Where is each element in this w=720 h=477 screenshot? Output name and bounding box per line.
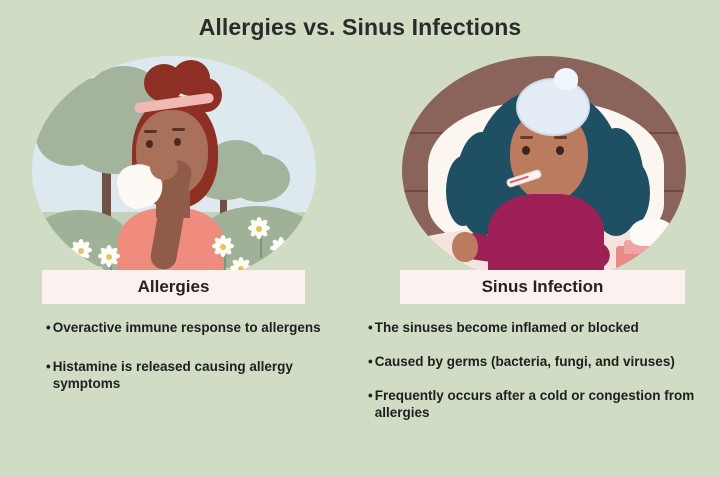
girl-eyebrow-right	[172, 128, 185, 131]
daisy-center	[106, 254, 112, 260]
banner-sinus-infection-label: Sinus Infection	[482, 277, 604, 296]
infographic-root: Allergies vs. Sinus Infections	[0, 0, 720, 477]
daisy-center	[256, 226, 262, 232]
bullet-marker-icon: •	[46, 320, 51, 337]
illustration-woman-in-bed-sick	[402, 56, 686, 284]
woman-eye-right	[556, 146, 564, 155]
girl-eye-left	[146, 140, 153, 148]
ice-pack-knot	[554, 68, 578, 90]
girl-eye-right	[174, 138, 181, 146]
bullet-list-sinus-infection: • The sinuses become inflamed or blocked…	[368, 320, 698, 439]
woman-hand	[452, 232, 478, 262]
daisy-center	[220, 244, 226, 250]
panel-sinus-infection: Sinus Infection	[392, 52, 692, 284]
list-item: • Caused by germs (bacteria, fungi, and …	[368, 354, 698, 371]
daisy-flower	[96, 244, 122, 270]
banner-allergies: Allergies	[42, 270, 305, 304]
illustration-woman-outdoors-sneezing	[32, 56, 316, 284]
bullet-marker-icon: •	[46, 359, 51, 393]
girl-eyebrow-left	[144, 130, 157, 133]
woman-hair-strand-far-right	[614, 160, 650, 226]
daisy-flower	[268, 236, 294, 262]
page-title: Allergies vs. Sinus Infections	[0, 14, 720, 41]
list-item: • Frequently occurs after a cold or cong…	[368, 388, 698, 422]
daisy-center	[50, 256, 56, 262]
woman-eyebrow-left	[520, 136, 533, 139]
tissue-box-tissue	[630, 218, 674, 246]
list-item: • Overactive immune response to allergen…	[46, 320, 336, 337]
woman-eye-left	[522, 146, 530, 155]
panel-allergies: Allergies	[18, 52, 330, 284]
bullet-text: Overactive immune response to allergens	[53, 320, 336, 337]
girl-hand	[150, 154, 178, 180]
ice-pack	[516, 78, 590, 136]
bullet-text: The sinuses become inflamed or blocked	[375, 320, 698, 337]
bullet-text: Caused by germs (bacteria, fungi, and vi…	[375, 354, 698, 371]
bullet-marker-icon: •	[368, 388, 373, 422]
daisy-center	[278, 246, 284, 252]
woman-eyebrow-right	[554, 136, 567, 139]
banner-allergies-label: Allergies	[138, 277, 210, 296]
list-item: • The sinuses become inflamed or blocked	[368, 320, 698, 337]
bullet-text: Histamine is released causing allergy sy…	[53, 359, 336, 393]
woman-hair-strand-far-left	[446, 156, 480, 226]
bullet-marker-icon: •	[368, 354, 373, 371]
banner-sinus-infection: Sinus Infection	[400, 270, 685, 304]
bullet-text: Frequently occurs after a cold or conges…	[375, 388, 698, 422]
daisy-center	[78, 248, 84, 254]
list-item: • Histamine is released causing allergy …	[46, 359, 336, 393]
bullet-marker-icon: •	[368, 320, 373, 337]
bullet-list-allergies: • Overactive immune response to allergen…	[46, 320, 336, 410]
thermometer-mercury	[509, 176, 529, 184]
daisy-flower	[68, 238, 94, 264]
daisy-flower	[40, 246, 66, 272]
